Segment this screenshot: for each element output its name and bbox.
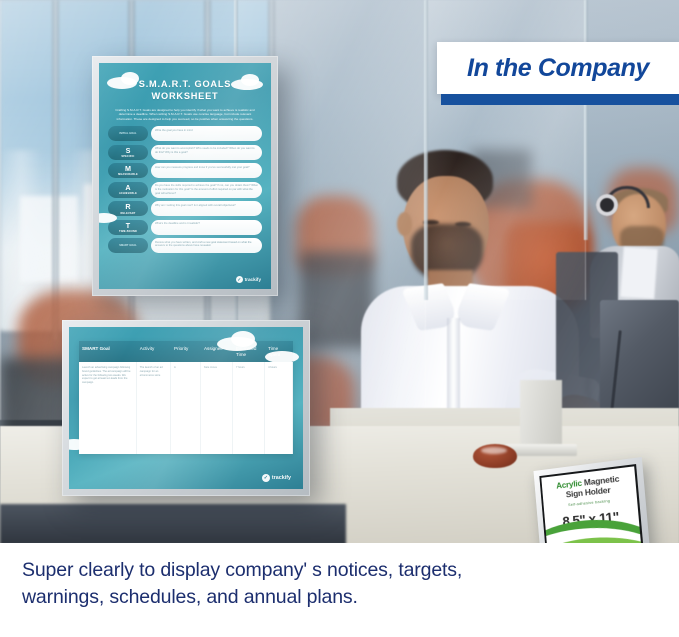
smart-row-key: S SPECIFIC bbox=[108, 145, 148, 160]
smart-row-word: SPECIFIC bbox=[121, 155, 134, 158]
smart-row: S SPECIFIC What do you want to accomplis… bbox=[108, 145, 262, 160]
desk-shadow-edge bbox=[0, 504, 346, 545]
smart-row-key: INITIAL GOAL bbox=[108, 126, 148, 141]
smart-row-key: SMART GOAL bbox=[108, 238, 148, 253]
check-icon: ✓ bbox=[236, 276, 243, 283]
check-icon: ✓ bbox=[262, 474, 270, 482]
cloud-icon bbox=[121, 72, 139, 85]
sign-holder-frame: Acrylic Magnetic Sign Holder Self-adhesi… bbox=[533, 457, 651, 545]
smart-row-letter: A bbox=[125, 184, 130, 191]
poster-artwork: S.M.A.R.T. GOALS WORKSHEET Crafting S.M.… bbox=[99, 63, 271, 289]
smart-row-prompt: Review what you have written, and craft … bbox=[151, 238, 262, 253]
smart-row-key: A ACHIEVABLE bbox=[108, 182, 148, 198]
caption-line-2: warnings, schedules, and annual plans. bbox=[22, 584, 502, 611]
smart-row-prompt: What's the deadline and is it realistic? bbox=[151, 220, 262, 235]
shirt bbox=[620, 247, 657, 299]
glass-edge bbox=[584, 0, 588, 240]
laptop bbox=[520, 380, 562, 452]
smart-row: R RELEVANT Why am I setting this goal no… bbox=[108, 201, 262, 216]
table-cell-assignee: Kate Jones bbox=[201, 362, 233, 454]
smart-row-label: INITIAL GOAL bbox=[119, 132, 136, 135]
cloud-icon bbox=[265, 351, 299, 363]
smart-row-key: M MEASURABLE bbox=[108, 163, 148, 178]
smart-row-prompt: Write the goal you have in mind bbox=[151, 126, 262, 141]
table-cell-time-spent: 4 hours bbox=[265, 362, 293, 454]
mouse-highlight bbox=[481, 447, 507, 454]
cloud-icon bbox=[231, 331, 255, 347]
poster-intro-paragraph: Crafting S.M.A.R.T. Goals are designed t… bbox=[99, 102, 271, 121]
glass-edge bbox=[424, 0, 428, 300]
table-header-row: SMART Goal Activity Priority Assignee Es… bbox=[79, 341, 293, 362]
framed-smart-goals-worksheet: S.M.A.R.T. GOALS WORKSHEET Crafting S.M.… bbox=[92, 56, 278, 296]
table-cell-activity: The launch of an ad campaign for an eCom… bbox=[137, 362, 171, 454]
smart-row-prompt: What do you want to accomplish? Who need… bbox=[151, 145, 262, 160]
table-column-header: Priority bbox=[171, 341, 201, 362]
trackify-logo-text: trackify bbox=[272, 475, 291, 481]
smart-goal-table: SMART Goal Activity Priority Assignee Es… bbox=[79, 341, 293, 454]
smart-row-prompt: How can you measure progress and know if… bbox=[151, 163, 262, 178]
table-cell-estimated-time: 7 hours bbox=[233, 362, 265, 454]
trackify-logo: ✓ trackify bbox=[262, 474, 291, 482]
header-accent-bar bbox=[441, 94, 679, 105]
acrylic-magnetic-sign-holder: Acrylic Magnetic Sign Holder Self-adhesi… bbox=[518, 462, 664, 545]
smart-row-letter: M bbox=[125, 165, 131, 172]
smart-row-label: SMART GOAL bbox=[119, 244, 136, 247]
smart-row: T TIME-BOUND What's the deadline and is … bbox=[108, 220, 262, 235]
smart-row-prompt: Do you have the skills required to achie… bbox=[151, 182, 262, 198]
caption-band: Super clearly to display company' s noti… bbox=[0, 543, 679, 637]
smart-row: M MEASURABLE How can you measure progres… bbox=[108, 163, 262, 178]
table-row: Launch an advertising campaign following… bbox=[79, 362, 293, 454]
smart-row: SMART GOAL Review what you have written,… bbox=[108, 238, 262, 253]
smart-row-word: ACHIEVABLE bbox=[119, 192, 137, 195]
smart-row-word: RELEVANT bbox=[121, 212, 136, 215]
smart-row-key: T TIME-BOUND bbox=[108, 220, 148, 235]
smart-row-prompt: Why am I setting this goal now? Is it al… bbox=[151, 201, 262, 216]
poster-artwork: SMART Goal Activity Priority Assignee Es… bbox=[69, 327, 303, 489]
framed-smart-goal-table: SMART Goal Activity Priority Assignee Es… bbox=[62, 320, 310, 496]
smart-row: INITIAL GOAL Write the goal you have in … bbox=[108, 126, 262, 141]
sign-holder-inner-border: Acrylic Magnetic Sign Holder Self-adhesi… bbox=[539, 464, 644, 545]
trackify-logo-text: trackify bbox=[245, 277, 261, 282]
table-column-header: SMART Goal bbox=[79, 341, 137, 362]
cloud-icon bbox=[241, 74, 259, 86]
caption-text: Super clearly to display company' s noti… bbox=[22, 557, 502, 610]
smart-rows-list: INITIAL GOAL Write the goal you have in … bbox=[99, 121, 271, 253]
headset-earcup-icon bbox=[596, 194, 618, 216]
caption-line-1: Super clearly to display company' s noti… bbox=[22, 557, 502, 584]
trackify-logo: ✓ trackify bbox=[236, 276, 261, 283]
smart-row-word: TIME-BOUND bbox=[119, 230, 137, 233]
product-marketing-image: S.M.A.R.T. GOALS WORKSHEET Crafting S.M.… bbox=[0, 0, 679, 637]
table-column-header: Activity bbox=[137, 341, 171, 362]
smart-row-letter: S bbox=[126, 147, 131, 154]
table-cell-smart-goal: Launch an advertising campaign following… bbox=[79, 362, 137, 454]
poster-title-line2: WORKSHEET bbox=[99, 91, 271, 103]
smart-row-letter: T bbox=[126, 222, 130, 229]
smart-row: A ACHIEVABLE Do you have the skills requ… bbox=[108, 182, 262, 198]
smart-row-word: MEASURABLE bbox=[118, 173, 138, 176]
table-cell-priority: A bbox=[171, 362, 201, 454]
header-banner: In the Company bbox=[437, 42, 679, 94]
smart-row-letter: R bbox=[125, 203, 130, 210]
insert-sheet: Acrylic Magnetic Sign Holder Self-adhesi… bbox=[541, 466, 642, 545]
page-title: In the Company bbox=[467, 54, 649, 83]
